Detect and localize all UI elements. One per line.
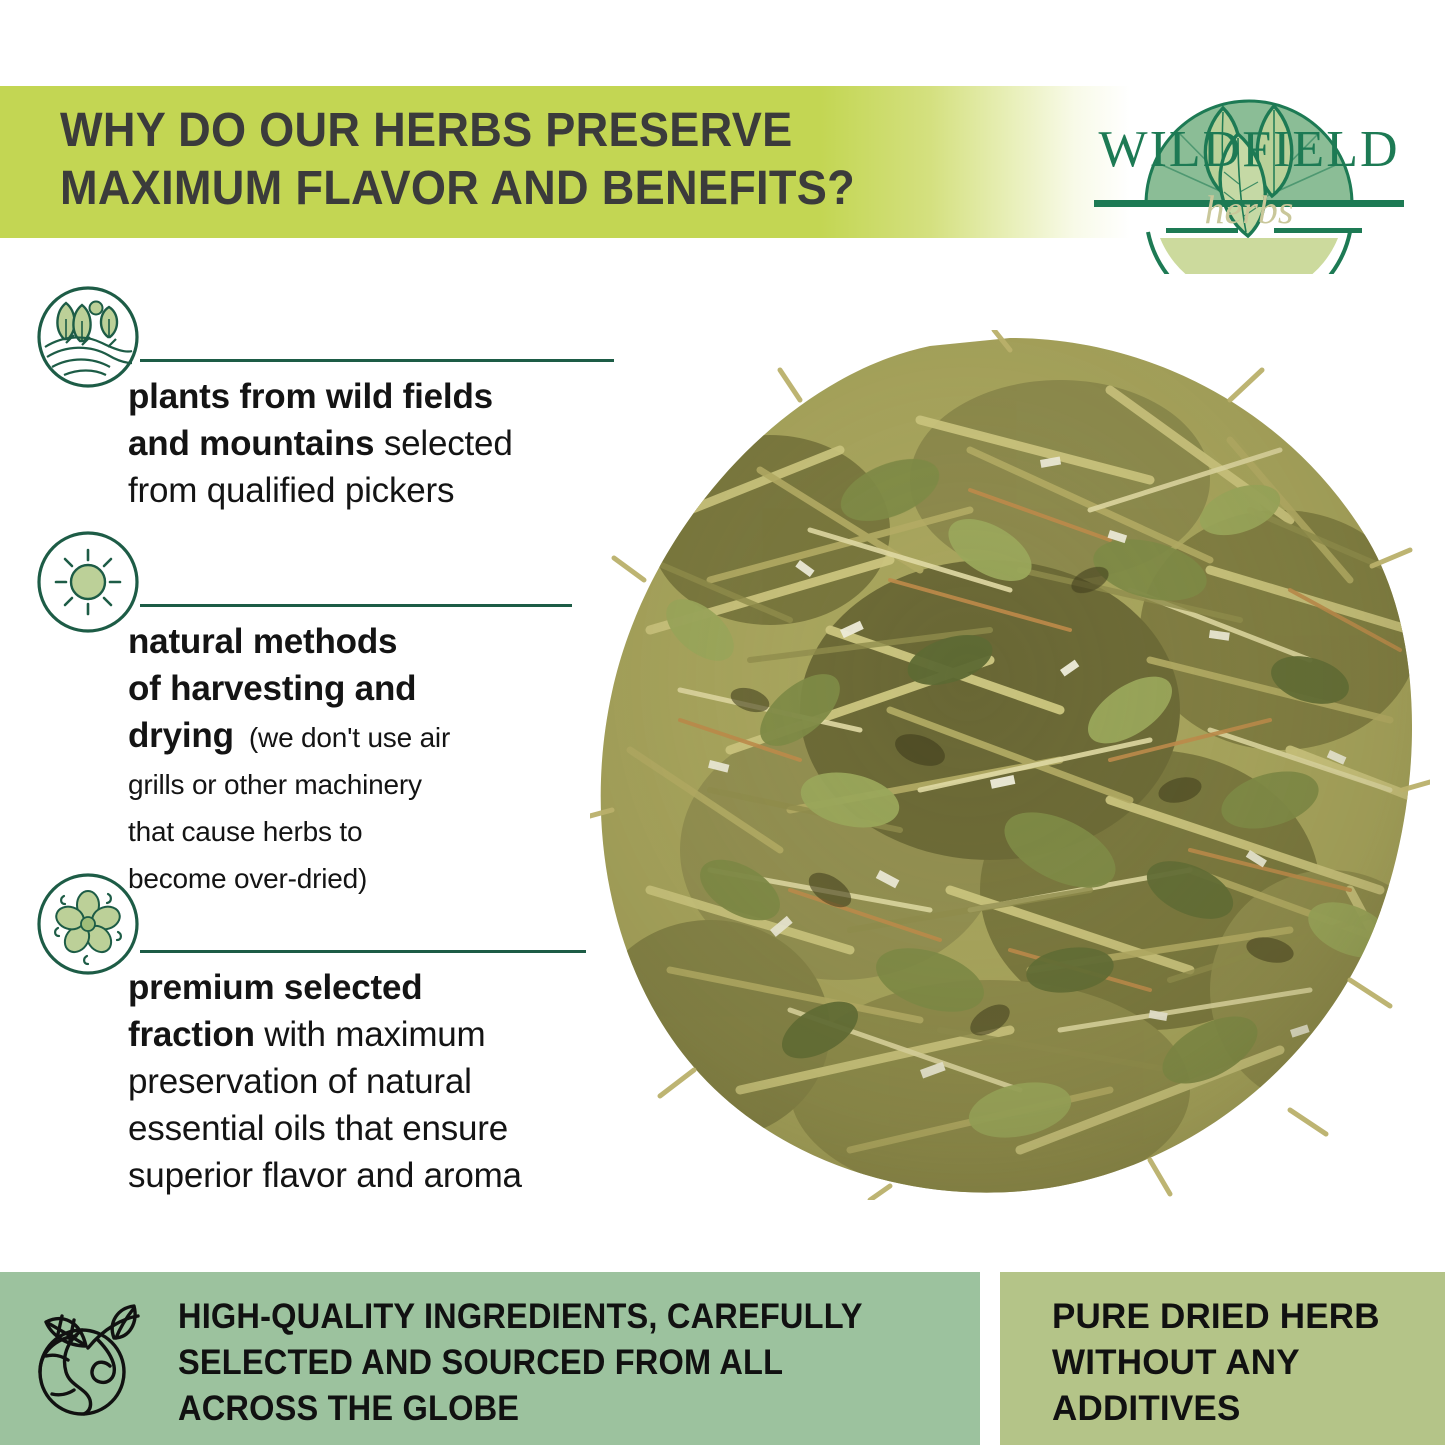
page-title: WHY DO OUR HERBS PRESERVE MAXIMUM FLAVOR… <box>60 102 981 218</box>
feature-text-wild-fields: plants from wild fields and mountains se… <box>128 373 648 514</box>
feature-3-regular-line4: essential oils that ensure <box>128 1109 508 1148</box>
dried-herb-pile-photo <box>590 330 1430 1200</box>
feature-2-note-line3: that cause herbs to <box>128 816 362 847</box>
feature-rule <box>140 950 586 953</box>
feature-text-premium-fraction: premium selected fraction with maximum p… <box>128 964 658 1199</box>
feature-rule <box>140 604 572 607</box>
banner-right-line-3: ADDITIVES <box>1052 1386 1442 1432</box>
feature-1-regular-line2: selected <box>374 424 512 463</box>
banner-left-line-3: ACROSS THE GLOBE <box>178 1386 913 1432</box>
banner-right-text: PURE DRIED HERB WITHOUT ANY ADDITIVES <box>1052 1294 1442 1432</box>
feature-2-note-line2: grills or other machinery <box>128 769 422 800</box>
feature-2-bold-line3: drying <box>128 716 234 755</box>
feature-rule <box>140 359 614 362</box>
banner-left-text: HIGH-QUALITY INGREDIENTS, CAREFULLY SELE… <box>178 1294 913 1432</box>
headline-line-2: MAXIMUM FLAVOR AND BENEFITS? <box>60 160 981 218</box>
feature-3-regular-line3: preservation of natural <box>128 1062 472 1101</box>
feature-2-note-line1: (we don't use air <box>249 722 450 753</box>
sun-icon <box>36 530 140 634</box>
feature-1-bold-line1: plants from wild fields <box>128 377 493 416</box>
logo-brand-sub: herbs <box>1088 188 1410 232</box>
field-with-trees-icon <box>36 285 140 389</box>
globe-with-leaf-icon <box>28 1296 146 1424</box>
banner-left-line-2: SELECTED AND SOURCED FROM ALL <box>178 1340 913 1386</box>
flower-drops-icon <box>36 872 140 976</box>
brand-logo: WILDFIELD herbs <box>1088 36 1410 274</box>
feature-1-regular-line3: from qualified pickers <box>128 471 454 510</box>
feature-3-regular-line2: with maximum <box>255 1015 486 1054</box>
feature-2-bold-line1: natural methods <box>128 622 397 661</box>
feature-3-regular-line5: superior flavor and aroma <box>128 1156 522 1195</box>
headline-line-1: WHY DO OUR HERBS PRESERVE <box>60 102 981 160</box>
feature-3-bold-line2: fraction <box>128 1015 255 1054</box>
banner-left-line-1: HIGH-QUALITY INGREDIENTS, CAREFULLY <box>178 1294 913 1340</box>
feature-text-natural-drying: natural methods of harvesting and drying… <box>128 618 628 900</box>
feature-3-bold-line1: premium selected <box>128 968 422 1007</box>
feature-1-bold-line2: and mountains <box>128 424 374 463</box>
banner-right-line-2: WITHOUT ANY <box>1052 1340 1442 1386</box>
feature-2-bold-line2: of harvesting and <box>128 669 416 708</box>
feature-2-note-line4: become over-dried) <box>128 863 367 894</box>
logo-brand-name: WILDFIELD <box>1088 124 1410 176</box>
banner-right-line-1: PURE DRIED HERB <box>1052 1294 1442 1340</box>
